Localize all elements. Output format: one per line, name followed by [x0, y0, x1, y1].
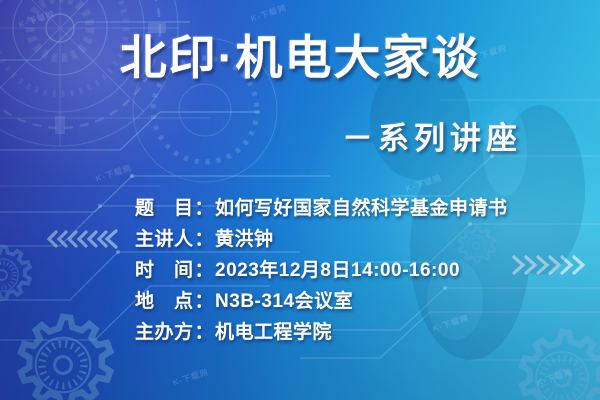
title-container: 北印·机电大家谈 — [0, 30, 600, 85]
poster-title: 北印·机电大家谈 — [120, 30, 481, 85]
info-value-location: N3B-314会议室 — [215, 291, 353, 312]
event-info-block: 题 目：如何写好国家自然科学基金申请书 主讲人：黄洪钟 时 间：2023年12月… — [135, 193, 565, 348]
info-colon-location: ： — [194, 291, 216, 312]
info-row-time: 时 间：2023年12月8日14:00-16:00 — [135, 255, 565, 286]
info-colon-topic: ： — [194, 198, 216, 219]
info-label-organizer: 主办方 — [135, 322, 194, 343]
info-value-topic: 如何写好国家自然科学基金申请书 — [215, 198, 508, 219]
poster-canvas: K-下载网 K-下载网 K-下载网 K-下载网 K-下载网 K-下载网 K-下载… — [0, 0, 600, 400]
poster-subtitle: －系列讲座 — [342, 113, 522, 158]
info-value-speaker: 黄洪钟 — [215, 229, 274, 250]
info-colon-organizer: ： — [194, 322, 216, 343]
info-colon-speaker: ： — [194, 229, 216, 250]
info-value-organizer: 机电工程学院 — [215, 322, 332, 343]
subtitle-container: －系列讲座 — [0, 113, 600, 158]
info-label-location: 地 点 — [135, 291, 194, 312]
info-row-topic: 题 目：如何写好国家自然科学基金申请书 — [135, 193, 565, 224]
info-row-organizer: 主办方：机电工程学院 — [135, 317, 565, 348]
info-value-time: 2023年12月8日14:00-16:00 — [215, 260, 460, 281]
info-row-location: 地 点：N3B-314会议室 — [135, 286, 565, 317]
info-label-topic: 题 目 — [135, 198, 194, 219]
info-row-speaker: 主讲人：黄洪钟 — [135, 224, 565, 255]
info-colon-time: ： — [194, 260, 216, 281]
info-label-speaker: 主讲人 — [135, 229, 194, 250]
info-label-time: 时 间 — [135, 260, 194, 281]
